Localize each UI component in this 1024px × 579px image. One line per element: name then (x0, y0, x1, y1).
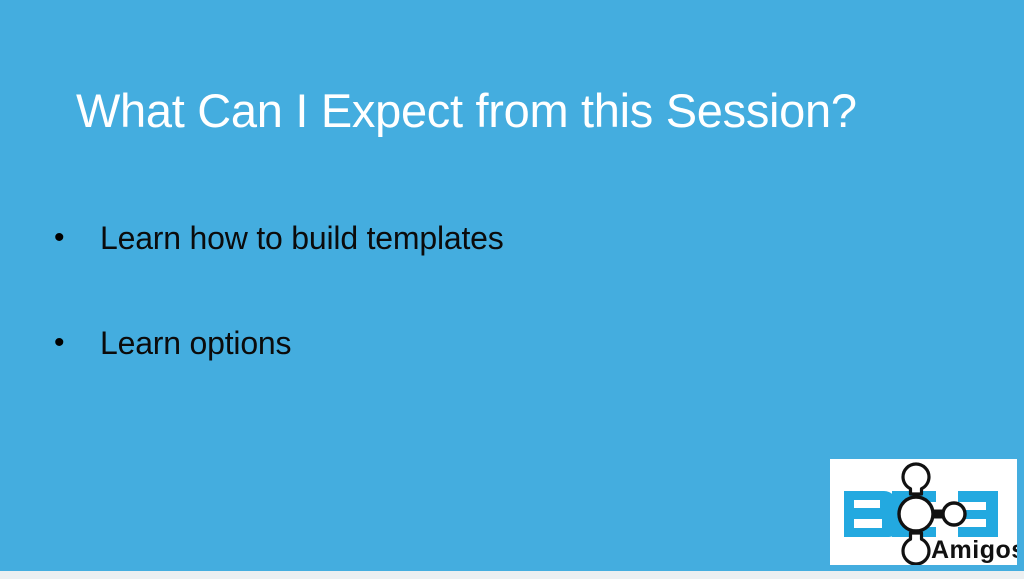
slide-bottom-edge (0, 571, 1024, 579)
bullet-item-label: Learn options (100, 317, 291, 369)
page-title: What Can I Expect from this Session? (76, 83, 936, 138)
list-item: • Learn options (46, 317, 786, 422)
bullet-point-icon: • (46, 317, 100, 369)
bullet-point-icon: • (46, 212, 100, 264)
flask-top-icon (903, 464, 929, 494)
bullet-item-label: Learn how to build templates (100, 212, 504, 264)
molecule-dumbbell-icon (899, 497, 965, 531)
list-item: • Learn how to build templates (46, 212, 786, 317)
bc3-amigos-logo: Amigos (830, 459, 1017, 565)
logo-graphic: Amigos (830, 459, 1017, 565)
presentation-slide: What Can I Expect from this Session? • L… (0, 0, 1024, 579)
flask-bottom-icon (903, 533, 929, 564)
logo-wordmark: Amigos (931, 536, 1017, 564)
bullet-list: • Learn how to build templates • Learn o… (46, 212, 786, 422)
